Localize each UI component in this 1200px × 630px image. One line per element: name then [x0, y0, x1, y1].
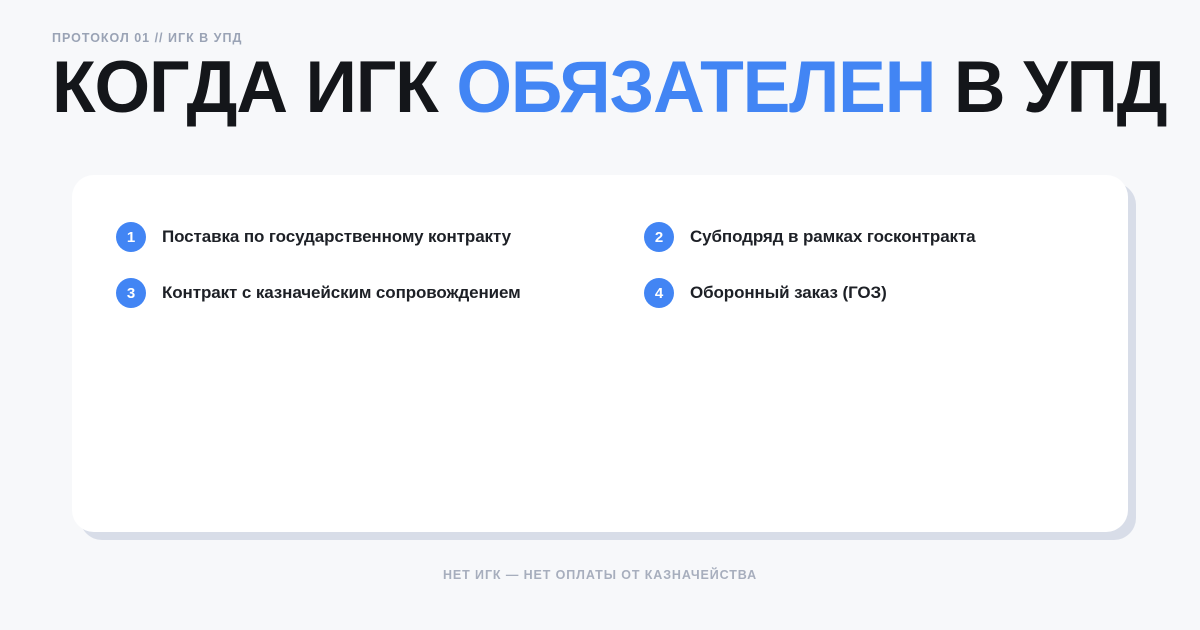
- title-segment-trailing: В УПД: [935, 47, 1166, 128]
- list-item-label: Контракт с казначейским сопровождением: [162, 283, 521, 303]
- page-title: КОГДА ИГК ОБЯЗАТЕЛЕН В УПД: [52, 51, 1130, 124]
- footer-note: НЕТ ИГК — НЕТ ОПЛАТЫ ОТ КАЗНАЧЕЙСТВА: [0, 568, 1200, 582]
- list-item[interactable]: 1 Поставка по государственному контракту: [116, 209, 644, 265]
- requirements-list: 1 Поставка по государственному контракту…: [116, 209, 1084, 321]
- content-card: 1 Поставка по государственному контракту…: [72, 175, 1128, 532]
- list-item-label: Поставка по государственному контракту: [162, 227, 511, 247]
- list-item[interactable]: 2 Субподряд в рамках госконтракта: [644, 209, 1084, 265]
- title-segment-accent: ОБЯЗАТЕЛЕН: [456, 47, 935, 128]
- item-number-badge: 3: [116, 278, 146, 308]
- list-item-label: Субподряд в рамках госконтракта: [690, 227, 976, 247]
- eyebrow-label: ПРОТОКОЛ 01 // ИГК В УПД: [52, 30, 1152, 46]
- header: ПРОТОКОЛ 01 // ИГК В УПД КОГДА ИГК ОБЯЗА…: [52, 30, 1152, 173]
- list-item[interactable]: 4 Оборонный заказ (ГОЗ): [644, 265, 1084, 321]
- content-card-wrapper: 1 Поставка по государственному контракту…: [72, 175, 1128, 532]
- item-number-badge: 1: [116, 222, 146, 252]
- slide-root: ПРОТОКОЛ 01 // ИГК В УПД КОГДА ИГК ОБЯЗА…: [0, 0, 1200, 630]
- list-item[interactable]: 3 Контракт с казначейским сопровождением: [116, 265, 644, 321]
- list-item-label: Оборонный заказ (ГОЗ): [690, 283, 887, 303]
- item-number-badge: 4: [644, 278, 674, 308]
- title-segment-leading: КОГДА ИГК: [52, 47, 456, 128]
- item-number-badge: 2: [644, 222, 674, 252]
